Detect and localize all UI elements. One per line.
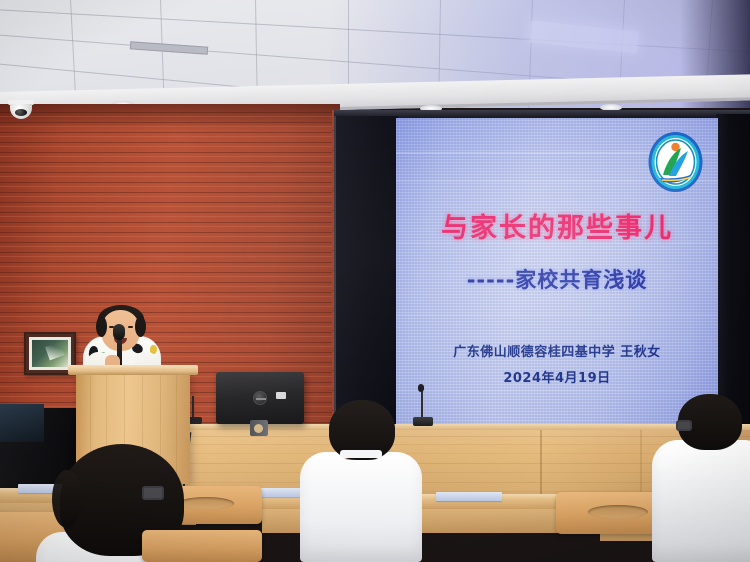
wooden-chair	[142, 530, 262, 562]
gooseneck-mic-rod	[192, 396, 194, 418]
chair-back-cutout	[588, 505, 648, 519]
podium-top-surface	[68, 365, 198, 375]
gooseneck-mic-base	[413, 417, 433, 426]
led-screen-right-bezel	[716, 114, 750, 434]
dell-logo-icon	[253, 391, 267, 405]
handout-booklet	[436, 492, 502, 501]
gooseneck-mic-rod	[421, 388, 423, 418]
gooseneck-mic-icon	[418, 384, 424, 392]
monitor-sticker	[276, 392, 286, 399]
security-camera-lens-icon	[15, 109, 27, 116]
monitor-cable-hole	[254, 424, 263, 433]
microphone-head-icon	[113, 324, 125, 340]
chair-back-cutout	[178, 497, 234, 510]
presentation-photo-scene: 与家长的那些事儿 -----家校共育浅谈 广东佛山顺德容桂四基中学 王秋女 20…	[0, 0, 750, 562]
ceiling-vent-icon	[130, 41, 208, 54]
led-presentation-screen[interactable]: 与家长的那些事儿 -----家校共育浅谈 广东佛山顺德容桂四基中学 王秋女 20…	[396, 118, 718, 430]
side-display-panel	[0, 404, 44, 442]
led-screen-left-bezel	[334, 116, 398, 432]
